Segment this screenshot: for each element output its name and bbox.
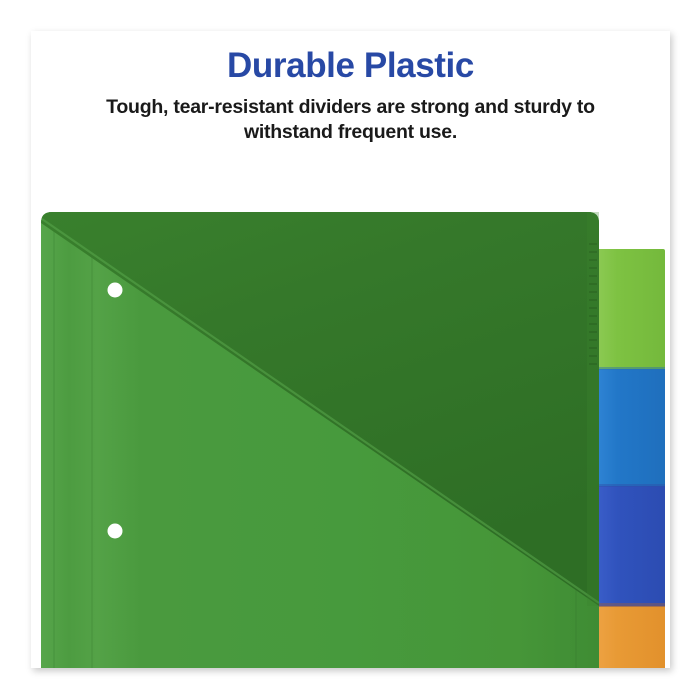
divider-illustration — [31, 179, 670, 668]
tab-seam-3 — [597, 603, 665, 607]
sheet-right-spine — [587, 212, 599, 606]
top-punch-hole — [108, 283, 123, 298]
product-image — [31, 179, 670, 668]
tab-light-green[interactable] — [597, 249, 665, 370]
tab-seam-1 — [597, 367, 665, 370]
subheadline: Tough, tear-resistant dividers are stron… — [68, 95, 634, 146]
product-card: Durable Plastic Tough, tear-resistant di… — [31, 31, 670, 668]
index-tab-stack — [597, 249, 665, 668]
tab-blue[interactable] — [597, 369, 665, 487]
tab-orange[interactable] — [597, 606, 665, 668]
tab-royal-blue[interactable] — [597, 486, 665, 607]
subheadline-line-1: Tough, tear-resistant dividers are stron… — [106, 96, 572, 118]
header-text-block: Durable Plastic Tough, tear-resistant di… — [31, 47, 670, 145]
tab-seam-2 — [597, 484, 665, 487]
page-title: Durable Plastic — [45, 47, 656, 85]
product-feature-screenshot: Durable Plastic Tough, tear-resistant di… — [0, 0, 700, 700]
bottom-punch-hole — [108, 524, 123, 539]
